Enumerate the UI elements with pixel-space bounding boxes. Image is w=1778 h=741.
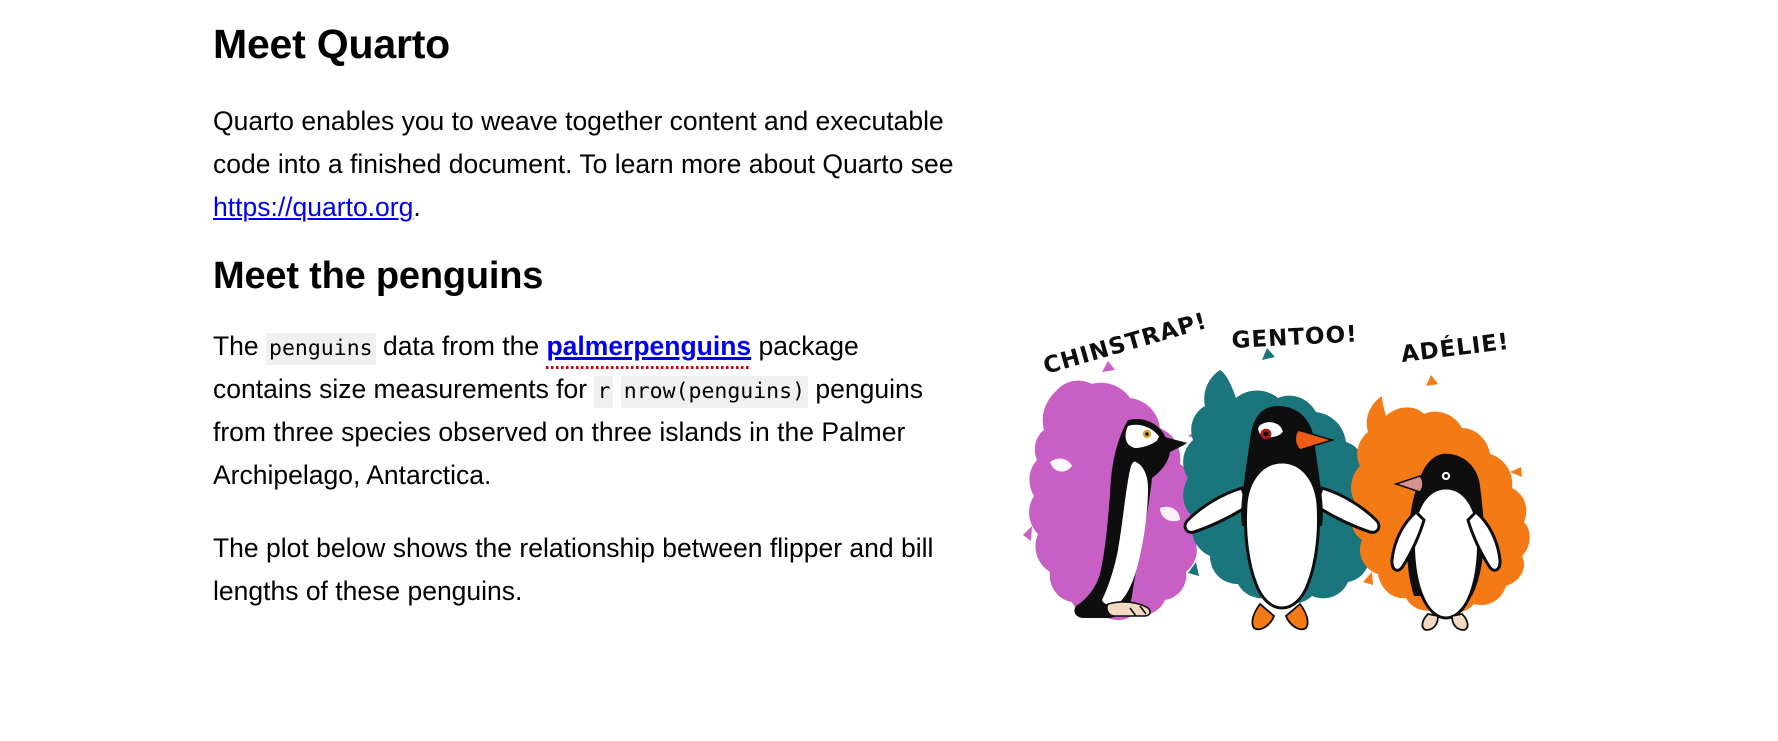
intro-paragraph: Quarto enables you to weave together con… xyxy=(213,68,973,229)
inline-code-r: r xyxy=(594,376,613,408)
palmer-penguins-artwork: CHINSTRAP! GENTOO! ADÉLIE! xyxy=(1010,312,1570,632)
label-adelie: ADÉLIE! xyxy=(1399,327,1511,368)
plot-description-paragraph: The plot below shows the relationship be… xyxy=(213,497,948,613)
quarto-org-link[interactable]: https://quarto.org xyxy=(213,192,413,222)
page-title: Meet Quarto xyxy=(213,0,973,68)
penguins-text-seg1: The xyxy=(213,331,266,361)
section-heading-penguins: Meet the penguins xyxy=(213,229,973,298)
penguins-paragraph: The penguins data from the palmerpenguin… xyxy=(213,297,948,497)
palmerpenguins-link[interactable]: palmerpenguins xyxy=(546,331,751,361)
document-content-column: Meet Quarto Quarto enables you to weave … xyxy=(213,0,973,613)
label-chinstrap: CHINSTRAP! xyxy=(1040,312,1210,380)
inline-code-penguins: penguins xyxy=(266,333,376,365)
intro-text-after-link: . xyxy=(413,192,420,222)
inline-code-nrow-penguins: nrow(penguins) xyxy=(621,376,808,408)
intro-text-before-link: Quarto enables you to weave together con… xyxy=(213,106,954,179)
label-gentoo: GENTOO! xyxy=(1231,321,1358,354)
penguins-text-seg2: data from the xyxy=(376,331,547,361)
document-page: Meet Quarto Quarto enables you to weave … xyxy=(0,0,1778,741)
